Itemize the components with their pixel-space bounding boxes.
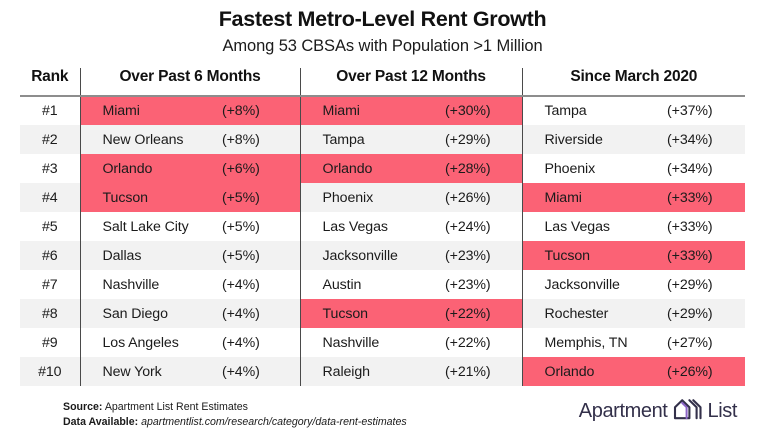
column-header-rank: Rank <box>20 68 80 96</box>
footer-source-line: Source: Apartment List Rent Estimates <box>63 400 407 415</box>
metro-percent-cell: (+33%) <box>665 183 745 212</box>
metro-percent-cell: (+4%) <box>220 328 300 357</box>
metro-name-cell: Riverside <box>522 125 665 154</box>
metro-percent-cell: (+26%) <box>443 183 522 212</box>
metro-name-cell: Rochester <box>522 299 665 328</box>
metro-percent-cell: (+21%) <box>443 357 522 386</box>
metro-name-cell: Orlando <box>80 154 220 183</box>
rent-table-wrapper: Rank Over Past 6 Months Over Past 12 Mon… <box>20 68 745 386</box>
rank-cell: #5 <box>20 212 80 241</box>
metro-name-cell: Jacksonville <box>300 241 443 270</box>
metro-percent-cell: (+6%) <box>220 154 300 183</box>
metro-name-cell: Phoenix <box>300 183 443 212</box>
metro-percent-cell: (+34%) <box>665 125 745 154</box>
metro-percent-cell: (+34%) <box>665 154 745 183</box>
metro-name-cell: Raleigh <box>300 357 443 386</box>
metro-name-cell: Miami <box>300 96 443 125</box>
metro-percent-cell: (+37%) <box>665 96 745 125</box>
metro-percent-cell: (+23%) <box>443 270 522 299</box>
metro-name-cell: Tucson <box>80 183 220 212</box>
metro-percent-cell: (+5%) <box>220 183 300 212</box>
table-row: #10New York(+4%)Raleigh(+21%)Orlando(+26… <box>20 357 745 386</box>
metro-name-cell: San Diego <box>80 299 220 328</box>
table-row: #6Dallas(+5%)Jacksonville(+23%)Tucson(+3… <box>20 241 745 270</box>
metro-name-cell: Miami <box>522 183 665 212</box>
rent-growth-infographic: Fastest Metro-Level Rent Growth Among 53… <box>0 0 765 443</box>
metro-percent-cell: (+33%) <box>665 241 745 270</box>
apartment-list-house-icon <box>672 396 702 427</box>
page-title: Fastest Metro-Level Rent Growth <box>0 6 765 32</box>
apartment-list-logo: Apartment List <box>579 396 737 427</box>
metro-name-cell: Dallas <box>80 241 220 270</box>
metro-percent-cell: (+4%) <box>220 299 300 328</box>
metro-name-cell: New York <box>80 357 220 386</box>
metro-percent-cell: (+8%) <box>220 96 300 125</box>
title-block: Fastest Metro-Level Rent Growth Among 53… <box>0 6 765 57</box>
metro-percent-cell: (+5%) <box>220 212 300 241</box>
metro-name-cell: Tucson <box>522 241 665 270</box>
table-row: #7Nashville(+4%)Austin(+23%)Jacksonville… <box>20 270 745 299</box>
metro-name-cell: Tucson <box>300 299 443 328</box>
rent-growth-table: Rank Over Past 6 Months Over Past 12 Mon… <box>20 68 745 386</box>
table-header: Rank Over Past 6 Months Over Past 12 Mon… <box>20 68 745 96</box>
metro-name-cell: Orlando <box>300 154 443 183</box>
page-subtitle: Among 53 CBSAs with Population >1 Millio… <box>0 35 765 57</box>
footer-source-value: Apartment List Rent Estimates <box>105 401 248 413</box>
footer-data-url: apartmentlist.com/research/category/data… <box>141 416 407 428</box>
footer-data-line: Data Available: apartmentlist.com/resear… <box>63 415 407 430</box>
metro-percent-cell: (+22%) <box>443 299 522 328</box>
table-row: #3Orlando(+6%)Orlando(+28%)Phoenix(+34%) <box>20 154 745 183</box>
metro-percent-cell: (+26%) <box>665 357 745 386</box>
footer-source-label: Source: <box>63 401 102 413</box>
metro-percent-cell: (+29%) <box>443 125 522 154</box>
rank-cell: #10 <box>20 357 80 386</box>
metro-percent-cell: (+27%) <box>665 328 745 357</box>
metro-name-cell: Memphis, TN <box>522 328 665 357</box>
table-row: #8San Diego(+4%)Tucson(+22%)Rochester(+2… <box>20 299 745 328</box>
rank-cell: #1 <box>20 96 80 125</box>
metro-percent-cell: (+5%) <box>220 241 300 270</box>
rank-cell: #3 <box>20 154 80 183</box>
table-row: #1Miami(+8%)Miami(+30%)Tampa(+37%) <box>20 96 745 125</box>
rank-cell: #8 <box>20 299 80 328</box>
metro-name-cell: Las Vegas <box>522 212 665 241</box>
column-header-past-12-months: Over Past 12 Months <box>300 68 522 96</box>
metro-name-cell: Tampa <box>300 125 443 154</box>
rank-cell: #4 <box>20 183 80 212</box>
metro-percent-cell: (+33%) <box>665 212 745 241</box>
metro-name-cell: Nashville <box>300 328 443 357</box>
column-header-past-6-months: Over Past 6 Months <box>80 68 300 96</box>
metro-name-cell: Las Vegas <box>300 212 443 241</box>
column-header-since-march-2020: Since March 2020 <box>522 68 745 96</box>
metro-name-cell: New Orleans <box>80 125 220 154</box>
footer-notes: Source: Apartment List Rent Estimates Da… <box>63 400 407 430</box>
table-row: #5Salt Lake City(+5%)Las Vegas(+24%)Las … <box>20 212 745 241</box>
metro-name-cell: Austin <box>300 270 443 299</box>
rank-cell: #7 <box>20 270 80 299</box>
metro-percent-cell: (+23%) <box>443 241 522 270</box>
metro-name-cell: Nashville <box>80 270 220 299</box>
table-row: #9Los Angeles(+4%)Nashville(+22%)Memphis… <box>20 328 745 357</box>
footer-data-label: Data Available: <box>63 416 138 428</box>
logo-word-apartment: Apartment <box>579 400 668 423</box>
metro-percent-cell: (+28%) <box>443 154 522 183</box>
metro-name-cell: Los Angeles <box>80 328 220 357</box>
metro-percent-cell: (+22%) <box>443 328 522 357</box>
metro-name-cell: Jacksonville <box>522 270 665 299</box>
table-header-row: Rank Over Past 6 Months Over Past 12 Mon… <box>20 68 745 96</box>
rank-cell: #6 <box>20 241 80 270</box>
metro-name-cell: Phoenix <box>522 154 665 183</box>
metro-percent-cell: (+29%) <box>665 299 745 328</box>
metro-percent-cell: (+4%) <box>220 270 300 299</box>
table-row: #4Tucson(+5%)Phoenix(+26%)Miami(+33%) <box>20 183 745 212</box>
logo-word-list: List <box>707 400 737 423</box>
rank-cell: #9 <box>20 328 80 357</box>
metro-percent-cell: (+30%) <box>443 96 522 125</box>
metro-name-cell: Orlando <box>522 357 665 386</box>
metro-percent-cell: (+8%) <box>220 125 300 154</box>
rank-cell: #2 <box>20 125 80 154</box>
table-body: #1Miami(+8%)Miami(+30%)Tampa(+37%)#2New … <box>20 96 745 386</box>
metro-name-cell: Salt Lake City <box>80 212 220 241</box>
metro-percent-cell: (+29%) <box>665 270 745 299</box>
metro-name-cell: Tampa <box>522 96 665 125</box>
metro-name-cell: Miami <box>80 96 220 125</box>
metro-percent-cell: (+24%) <box>443 212 522 241</box>
metro-percent-cell: (+4%) <box>220 357 300 386</box>
table-row: #2New Orleans(+8%)Tampa(+29%)Riverside(+… <box>20 125 745 154</box>
